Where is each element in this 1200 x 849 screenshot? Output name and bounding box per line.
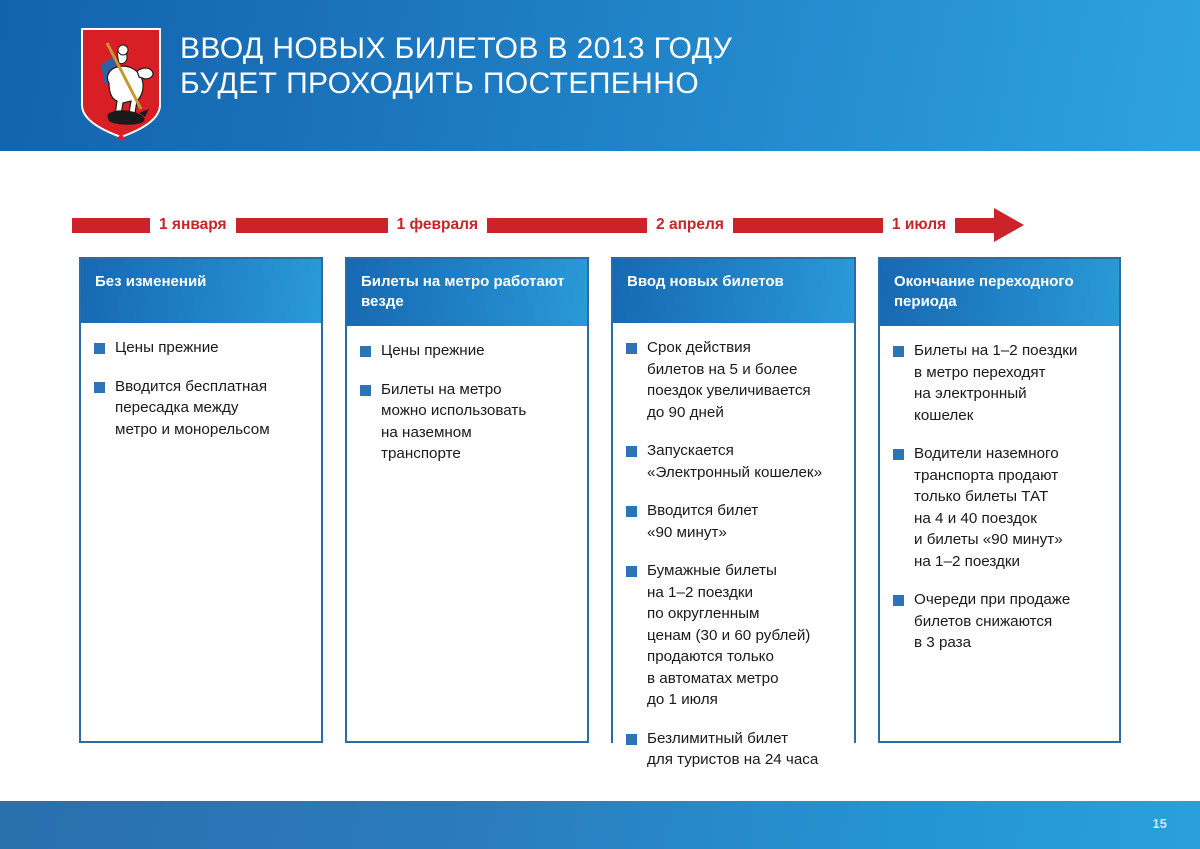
card-row: Без изменений Цены прежние Вводится бесп…	[79, 257, 1121, 743]
card-body: Цены прежние Билеты на метро можно испол…	[347, 326, 587, 741]
list-item: Цены прежние	[360, 340, 577, 362]
bullet-square-icon	[893, 449, 904, 460]
timeline-segment	[487, 218, 647, 233]
card-body: Срок действия билетов на 5 и более поезд…	[613, 323, 854, 781]
card-title: Билеты на метро работают везде	[347, 259, 587, 326]
timeline-arrow-head-icon	[994, 208, 1024, 242]
timeline-segment	[72, 218, 150, 233]
card-new-tickets-introduction: Ввод новых билетов Срок действия билетов…	[611, 257, 856, 743]
list-item-text: Вводится бесплатная пересадка между метр…	[115, 376, 270, 441]
card-no-changes: Без изменений Цены прежние Вводится бесп…	[79, 257, 323, 743]
list-item: Запускается «Электронный кошелек»	[626, 440, 844, 483]
bullet-square-icon	[626, 343, 637, 354]
list-item: Бумажные билеты на 1–2 поездки по округл…	[626, 560, 844, 711]
bullet-square-icon	[94, 382, 105, 393]
timeline-segment	[236, 218, 388, 233]
list-item: Билеты на метро можно использовать на на…	[360, 379, 577, 465]
list-item: Вводится билет «90 минут»	[626, 500, 844, 543]
bullet-square-icon	[893, 595, 904, 606]
slide-footer: 15	[0, 801, 1200, 849]
card-metro-tickets-everywhere: Билеты на метро работают везде Цены преж…	[345, 257, 589, 743]
list-item-text: Бумажные билеты на 1–2 поездки по округл…	[647, 560, 810, 711]
list-item-text: Срок действия билетов на 5 и более поезд…	[647, 337, 811, 423]
timeline-date-3: 1 июля	[883, 217, 955, 233]
moscow-coat-of-arms-icon	[79, 27, 163, 139]
bullet-square-icon	[893, 346, 904, 357]
list-item: Безлимитный билет для туристов на 24 час…	[626, 728, 844, 771]
timeline-date-0: 1 января	[150, 217, 236, 233]
timeline-date-1: 1 февраля	[388, 217, 487, 233]
list-item-text: Запускается «Электронный кошелек»	[647, 440, 822, 483]
card-end-of-transition-period: Окончание переходного периода Билеты на …	[878, 257, 1121, 743]
page-title: ВВОД НОВЫХ БИЛЕТОВ В 2013 ГОДУ БУДЕТ ПРО…	[180, 31, 1010, 101]
slide: ВВОД НОВЫХ БИЛЕТОВ В 2013 ГОДУ БУДЕТ ПРО…	[0, 0, 1200, 849]
list-item: Цены прежние	[94, 337, 311, 359]
card-body: Цены прежние Вводится бесплатная пересад…	[81, 323, 321, 741]
list-item-text: Билеты на метро можно использовать на на…	[381, 379, 526, 465]
card-title: Окончание переходного периода	[880, 259, 1119, 326]
card-title: Ввод новых билетов	[613, 259, 854, 323]
bullet-square-icon	[360, 346, 371, 357]
page-number: 15	[1153, 817, 1167, 830]
timeline: 1 января 1 февраля 2 апреля 1 июля	[72, 208, 1120, 242]
list-item-text: Билеты на 1–2 поездки в метро переходят …	[914, 340, 1077, 426]
timeline-segment	[955, 218, 995, 233]
timeline-segment	[733, 218, 883, 233]
bullet-square-icon	[94, 343, 105, 354]
page-title-line1: ВВОД НОВЫХ БИЛЕТОВ В 2013 ГОДУ	[180, 31, 1010, 66]
page-title-line2: БУДЕТ ПРОХОДИТЬ ПОСТЕПЕННО	[180, 66, 1010, 101]
list-item: Вводится бесплатная пересадка между метр…	[94, 376, 311, 441]
list-item-text: Водители наземного транспорта продают то…	[914, 443, 1063, 572]
bullet-square-icon	[360, 385, 371, 396]
card-body: Билеты на 1–2 поездки в метро переходят …	[880, 326, 1119, 741]
timeline-date-2: 2 апреля	[647, 217, 733, 233]
slide-header: ВВОД НОВЫХ БИЛЕТОВ В 2013 ГОДУ БУДЕТ ПРО…	[0, 0, 1200, 151]
list-item-text: Безлимитный билет для туристов на 24 час…	[647, 728, 818, 771]
bullet-square-icon	[626, 506, 637, 517]
list-item-text: Цены прежние	[381, 340, 485, 362]
list-item-text: Очереди при продаже билетов снижаются в …	[914, 589, 1070, 654]
list-item: Билеты на 1–2 поездки в метро переходят …	[893, 340, 1109, 426]
list-item-text: Цены прежние	[115, 337, 219, 359]
card-title: Без изменений	[81, 259, 321, 323]
bullet-square-icon	[626, 446, 637, 457]
list-item: Очереди при продаже билетов снижаются в …	[893, 589, 1109, 654]
bullet-square-icon	[626, 734, 637, 745]
list-item: Водители наземного транспорта продают то…	[893, 443, 1109, 572]
list-item: Срок действия билетов на 5 и более поезд…	[626, 337, 844, 423]
list-item-text: Вводится билет «90 минут»	[647, 500, 758, 543]
bullet-square-icon	[626, 566, 637, 577]
